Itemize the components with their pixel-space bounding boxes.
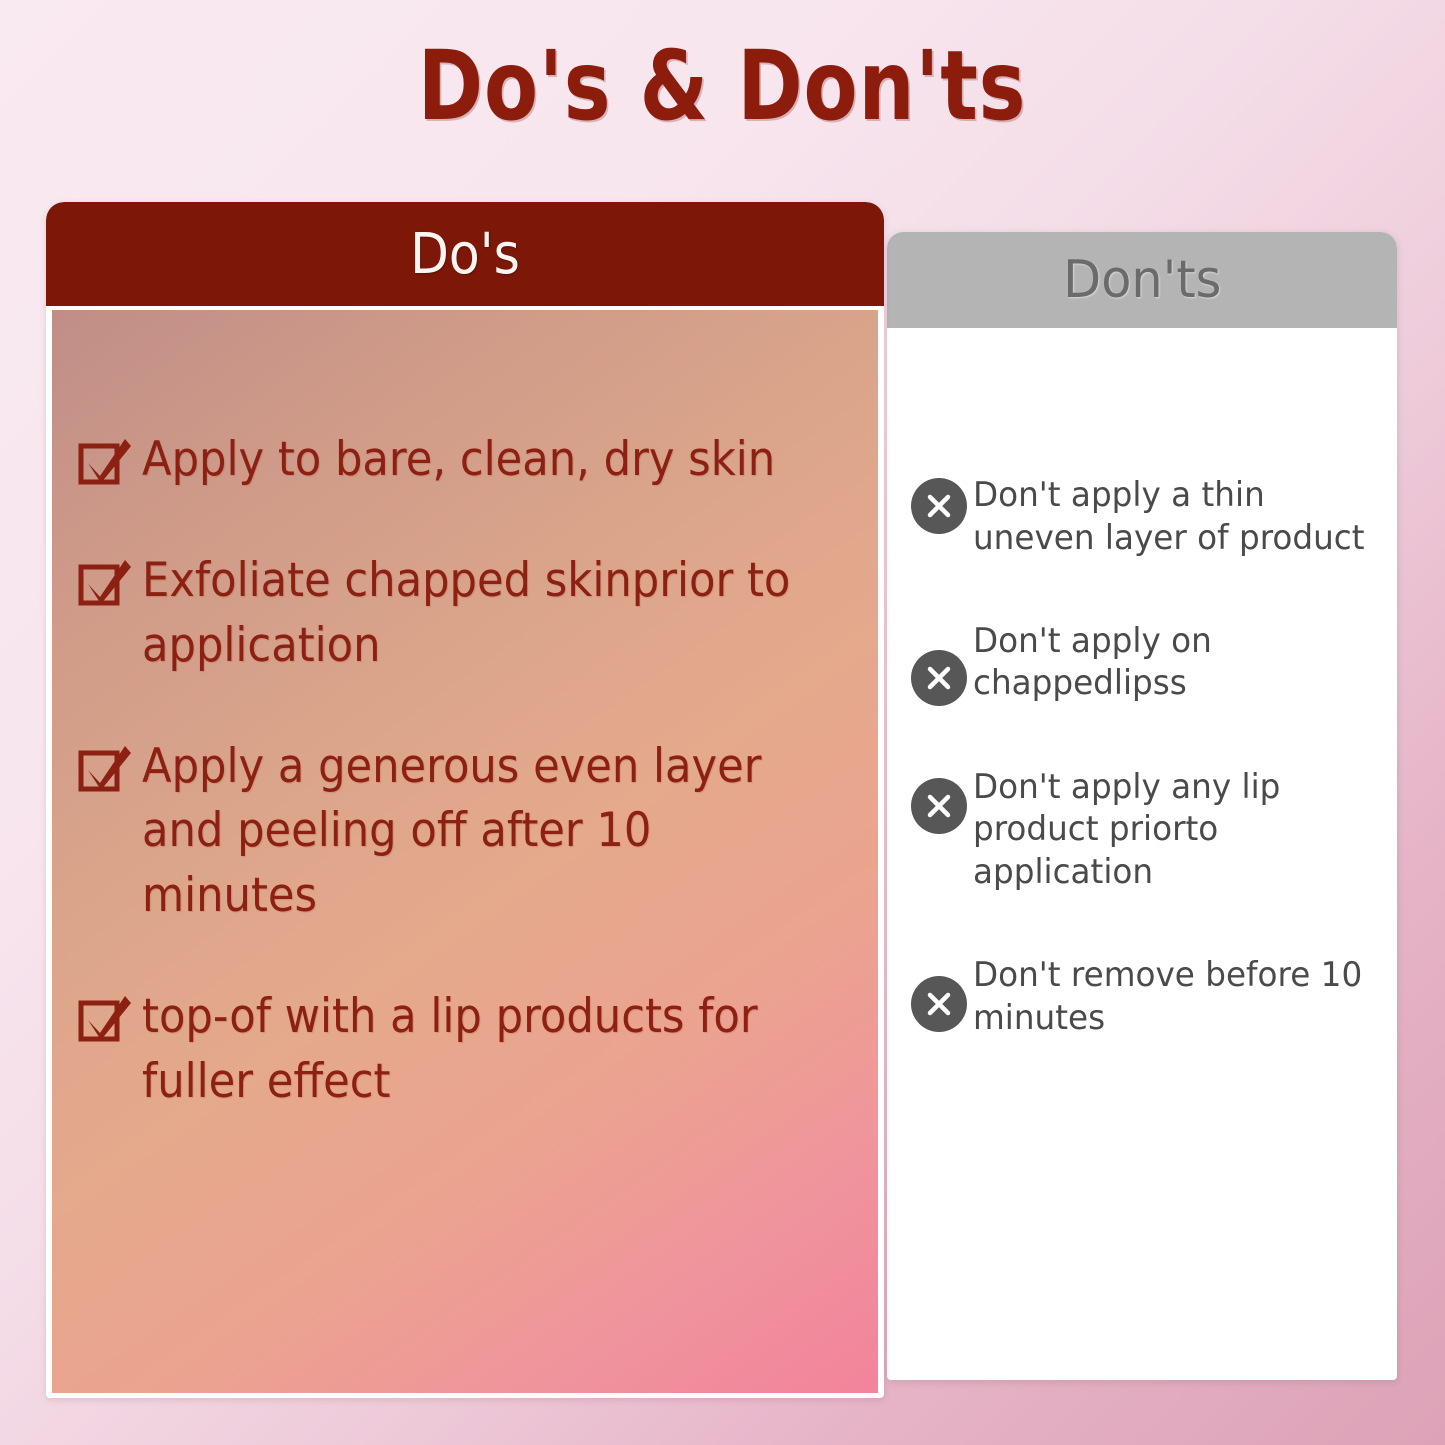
donts-body: Don't apply a thin uneven layer of produ…	[887, 328, 1397, 1040]
dont-item-text: Don't remove before 10 minutes	[973, 954, 1369, 1040]
list-item: Exfoliate chapped skinprior to applicati…	[78, 549, 854, 679]
checkbox-checked-icon	[78, 993, 138, 1043]
circle-x-icon	[911, 976, 967, 1032]
do-item-text: Apply to bare, clean, dry skin	[142, 428, 775, 493]
list-item: Don't apply any lip product priorto appl…	[911, 766, 1385, 894]
dont-item-text: Don't apply any lip product priorto appl…	[973, 766, 1369, 894]
dos-body: Apply to bare, clean, dry skin Exfoliate…	[52, 310, 878, 1393]
dos-header-label: Do's	[410, 222, 520, 287]
donts-header-label: Don'ts	[1063, 250, 1221, 310]
list-item: top-of with a lip products for fuller ef…	[78, 985, 854, 1115]
checkbox-checked-icon	[78, 436, 138, 486]
list-item: Apply a generous even layer and peeling …	[78, 735, 854, 930]
list-item: Don't remove before 10 minutes	[911, 954, 1385, 1040]
list-item: Apply to bare, clean, dry skin	[78, 428, 854, 493]
dont-item-text: Don't apply on chappedlipss	[973, 620, 1369, 706]
checkbox-checked-icon	[78, 557, 138, 607]
do-item-text: top-of with a lip products for fuller ef…	[142, 985, 797, 1115]
circle-x-icon	[911, 478, 967, 534]
dont-item-text: Don't apply a thin uneven layer of produ…	[973, 474, 1369, 560]
page-title-container: Do's & Don'ts	[0, 34, 1445, 140]
circle-x-icon	[911, 778, 967, 834]
donts-list: Don't apply a thin uneven layer of produ…	[911, 474, 1385, 1040]
dos-list: Apply to bare, clean, dry skin Exfoliate…	[78, 428, 854, 1115]
list-item: Don't apply on chappedlipss	[911, 620, 1385, 706]
circle-x-icon	[911, 650, 967, 706]
donts-card: Don'ts Don't apply a thin uneven layer o…	[887, 232, 1397, 1380]
do-item-text: Apply a generous even layer and peeling …	[142, 735, 797, 930]
page-title: Do's & Don'ts	[418, 34, 1027, 140]
list-item: Don't apply a thin uneven layer of produ…	[911, 474, 1385, 560]
donts-header: Don'ts	[887, 232, 1397, 328]
dos-header: Do's	[46, 202, 884, 306]
dos-card: Do's Apply to bare, clean, dry skin	[46, 202, 884, 1398]
do-item-text: Exfoliate chapped skinprior to applicati…	[142, 549, 797, 679]
checkbox-checked-icon	[78, 743, 138, 793]
